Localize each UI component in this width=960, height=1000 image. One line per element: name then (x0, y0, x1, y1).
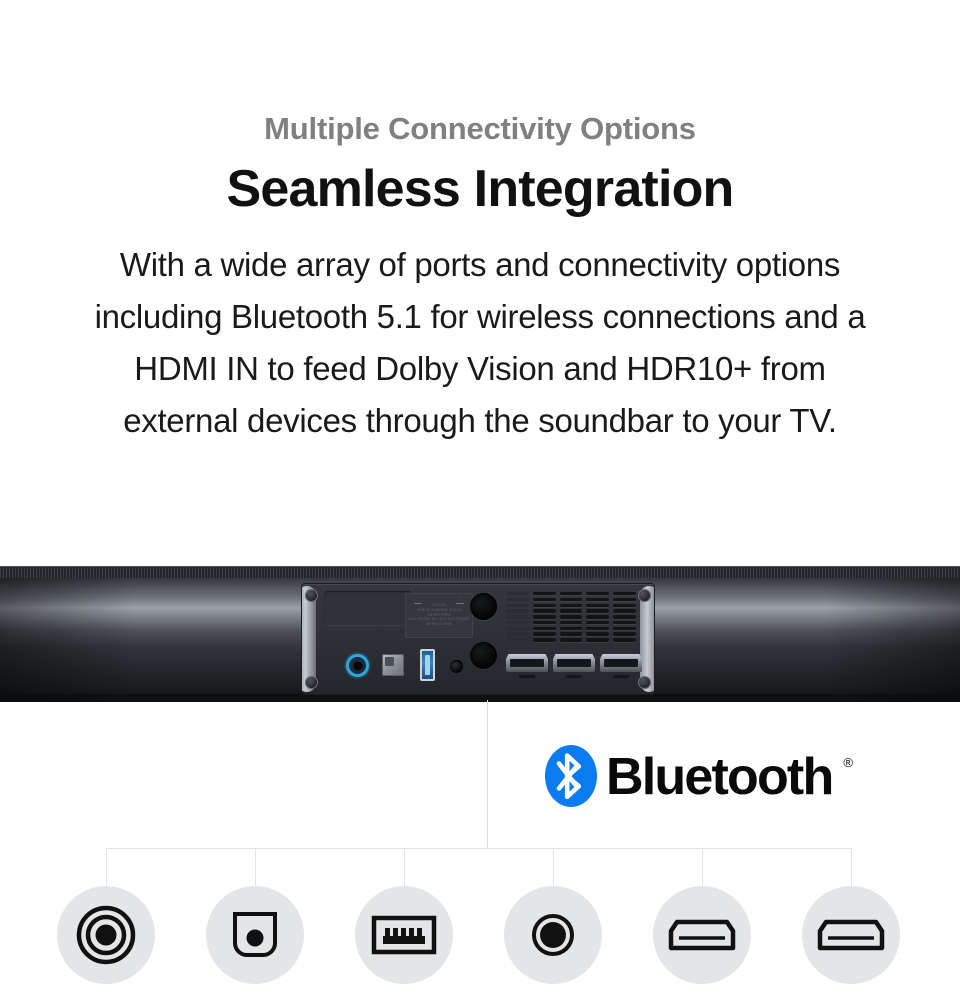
warning-label: CAUTION RISK OF ELECTRIC SHOCK DO NOT OP… (405, 593, 473, 638)
screw-icon (305, 589, 318, 602)
registered-trademark-icon: ® (843, 755, 853, 770)
screw-icon (638, 589, 651, 602)
eyebrow-text: Multiple Connectivity Options (0, 112, 960, 146)
hdmi-tab (613, 675, 629, 678)
connectivity-feature-page: Multiple Connectivity Options Seamless I… (0, 0, 960, 1000)
hdmi-tab (566, 675, 582, 678)
warning-triangle-icon (456, 597, 464, 604)
panel-recess (324, 591, 412, 625)
drop-line-optical (255, 848, 256, 888)
hdmi-port-2 (553, 654, 595, 672)
icon-circle-aux[interactable] (504, 886, 602, 984)
coaxial-port-icon (75, 904, 137, 966)
drop-line-usb (404, 848, 405, 888)
icon-circle-hdmi-out[interactable] (653, 886, 751, 984)
warning-line-5: NE PAS OUVRIR (406, 622, 472, 627)
vent-column (533, 592, 556, 644)
drop-line-coaxial (106, 848, 107, 888)
icon-circle-optical[interactable] (206, 886, 304, 984)
icon-circle-hdmi-in[interactable] (802, 886, 900, 984)
text-block: Multiple Connectivity Options Seamless I… (0, 0, 960, 447)
bluetooth-wordmark: Bluetooth (606, 751, 832, 803)
body-paragraph: With a wide array of ports and connectiv… (90, 239, 870, 448)
hdmi-port-icon (817, 918, 885, 952)
aux-jack-icon (530, 912, 576, 958)
icon-circle-coaxial[interactable] (57, 886, 155, 984)
page-title: Seamless Integration (0, 162, 960, 217)
icon-circle-usb[interactable] (355, 886, 453, 984)
optical-port-icon (229, 909, 281, 961)
bluetooth-logo: Bluetooth ® (545, 745, 853, 807)
hdmi-port-3 (600, 654, 642, 672)
panel-port-row (302, 644, 654, 690)
optical-port (382, 654, 404, 676)
drop-line-aux (553, 848, 554, 888)
hdmi-port-icon (668, 918, 736, 952)
usb-port (420, 649, 435, 681)
coaxial-jack (346, 654, 369, 677)
vent-column (506, 592, 529, 644)
rear-port-panel: CAUTION RISK OF ELECTRIC SHOCK DO NOT OP… (302, 584, 654, 694)
drop-line-hdmi-in (851, 848, 852, 888)
vent-column (613, 592, 636, 644)
bluetooth-rune-icon (545, 745, 597, 807)
warning-triangle-icon (414, 597, 422, 604)
port-bus-line (106, 848, 851, 849)
usb-port-icon (371, 913, 437, 957)
mount-hole-top (470, 593, 497, 620)
hdmi-port-1 (506, 654, 548, 672)
hdmi-tab (519, 675, 535, 678)
vent-grille (506, 592, 636, 644)
aux-jack (450, 660, 463, 673)
connectivity-icon-row (0, 886, 960, 986)
vent-column (586, 592, 609, 644)
vent-column (560, 592, 583, 644)
bluetooth-connector-line (487, 700, 488, 848)
drop-line-hdmi-out (702, 848, 703, 888)
